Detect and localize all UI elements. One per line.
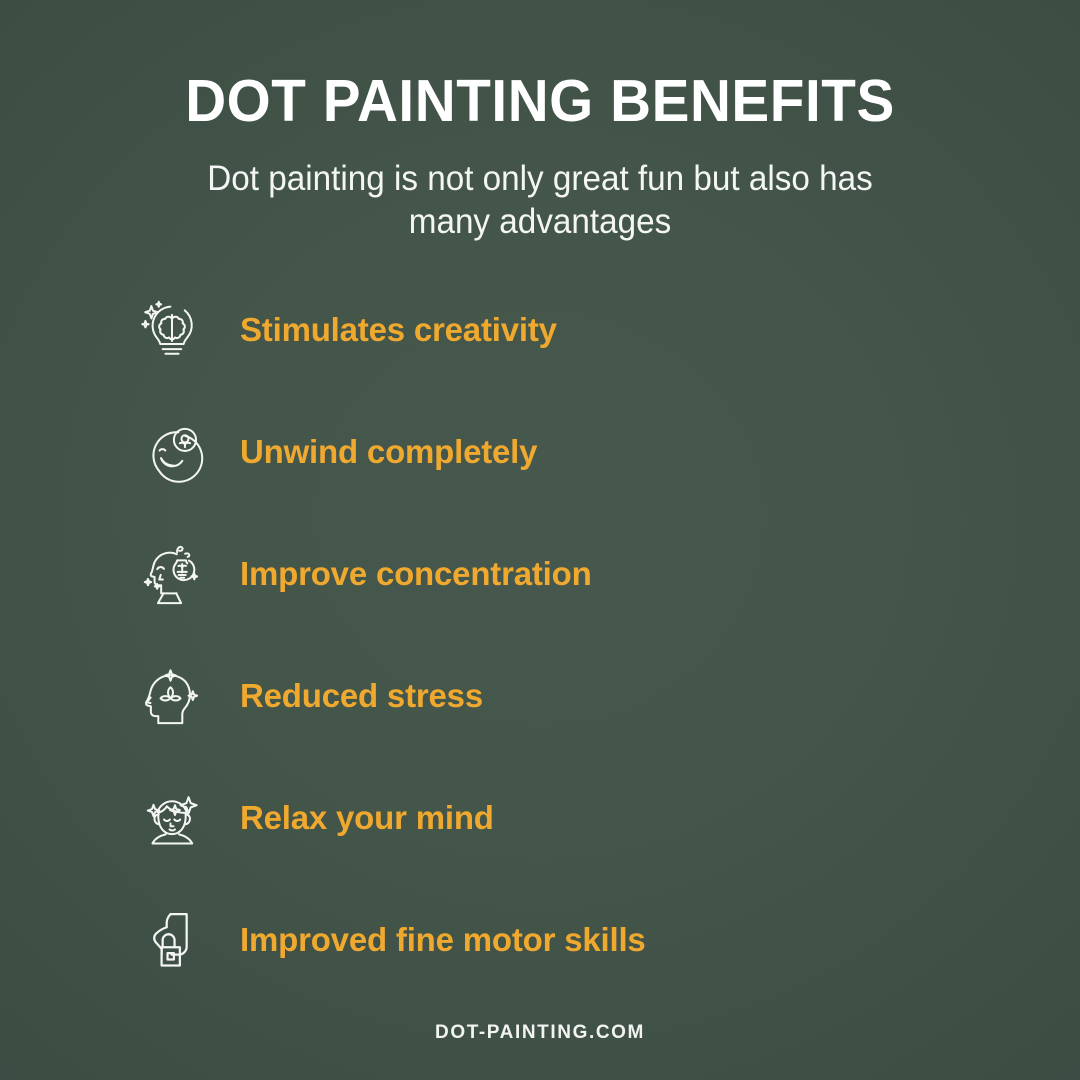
head-lotus-icon xyxy=(136,656,208,736)
page-subtitle: Dot painting is not only great fun but a… xyxy=(27,157,1053,244)
footer-website[interactable]: DOT-PAINTING.COM xyxy=(0,1022,1080,1044)
benefit-item-improved-fine-motor-skills: Improved fine motor skills xyxy=(136,898,996,982)
benefit-item-relax-your-mind: Relax your mind xyxy=(136,776,996,860)
page-title: DOT PAINTING BENEFITS xyxy=(22,72,1059,131)
benefit-label: Reduced stress xyxy=(240,677,483,715)
benefit-item-improve-concentration: Improve concentration xyxy=(136,532,996,616)
relaxed-face-sparkles-icon xyxy=(136,778,208,858)
hand-holding-block-icon xyxy=(136,900,208,980)
benefit-item-stimulates-creativity: Stimulates creativity xyxy=(136,288,996,372)
benefit-label: Unwind completely xyxy=(240,433,537,471)
benefit-label: Relax your mind xyxy=(240,799,494,837)
benefit-label: Improved fine motor skills xyxy=(240,921,646,959)
smiling-face-flower-icon xyxy=(136,412,208,492)
benefit-item-reduced-stress: Reduced stress xyxy=(136,654,996,738)
header: DOT PAINTING BENEFITS Dot painting is no… xyxy=(0,72,1080,244)
head-lightbulb-icon xyxy=(136,534,208,614)
benefit-label: Improve concentration xyxy=(240,555,592,593)
lightbulb-brain-icon xyxy=(136,290,208,370)
benefit-label: Stimulates creativity xyxy=(240,311,557,349)
poster-canvas: DOT PAINTING BENEFITS Dot painting is no… xyxy=(0,0,1080,1080)
benefit-item-unwind-completely: Unwind completely xyxy=(136,410,996,494)
benefits-list: Stimulates creativity Unwind completely xyxy=(136,288,996,1020)
